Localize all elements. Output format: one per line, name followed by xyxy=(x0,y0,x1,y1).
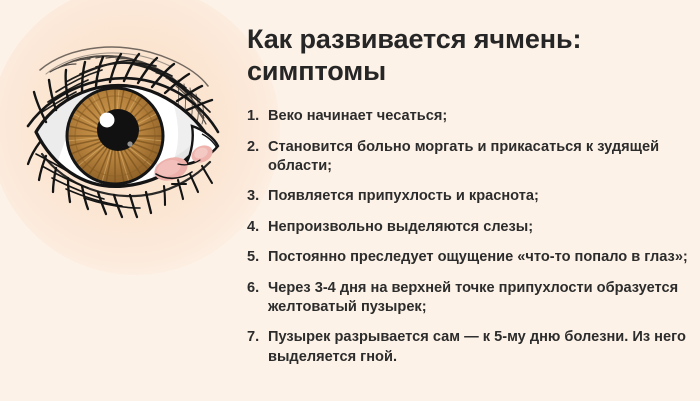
stye-symptoms-infographic: Как развивается ячмень: симптомы Веко на… xyxy=(0,0,700,401)
eye-illustration xyxy=(6,14,234,242)
list-item: Появляется припухлость и краснота; xyxy=(247,187,689,206)
list-item: Через 3-4 дня на верхней точке припухлос… xyxy=(247,279,689,318)
list-item: Пузырек разрывается сам — к 5-му дню бол… xyxy=(247,328,689,367)
list-item: Постоянно преследует ощущение «что-то по… xyxy=(247,248,689,267)
content-column: Как развивается ячмень: симптомы Веко на… xyxy=(247,24,689,367)
list-item: Становится больно моргать и прикасаться … xyxy=(247,138,689,177)
list-item: Веко начинает чесаться; xyxy=(247,107,689,126)
eye-highlight xyxy=(100,113,115,128)
list-item: Непроизвольно выделяются слезы; xyxy=(247,218,689,237)
symptom-list: Веко начинает чесаться; Становится больн… xyxy=(247,107,689,367)
page-title: Как развивается ячмень: симптомы xyxy=(247,24,689,87)
